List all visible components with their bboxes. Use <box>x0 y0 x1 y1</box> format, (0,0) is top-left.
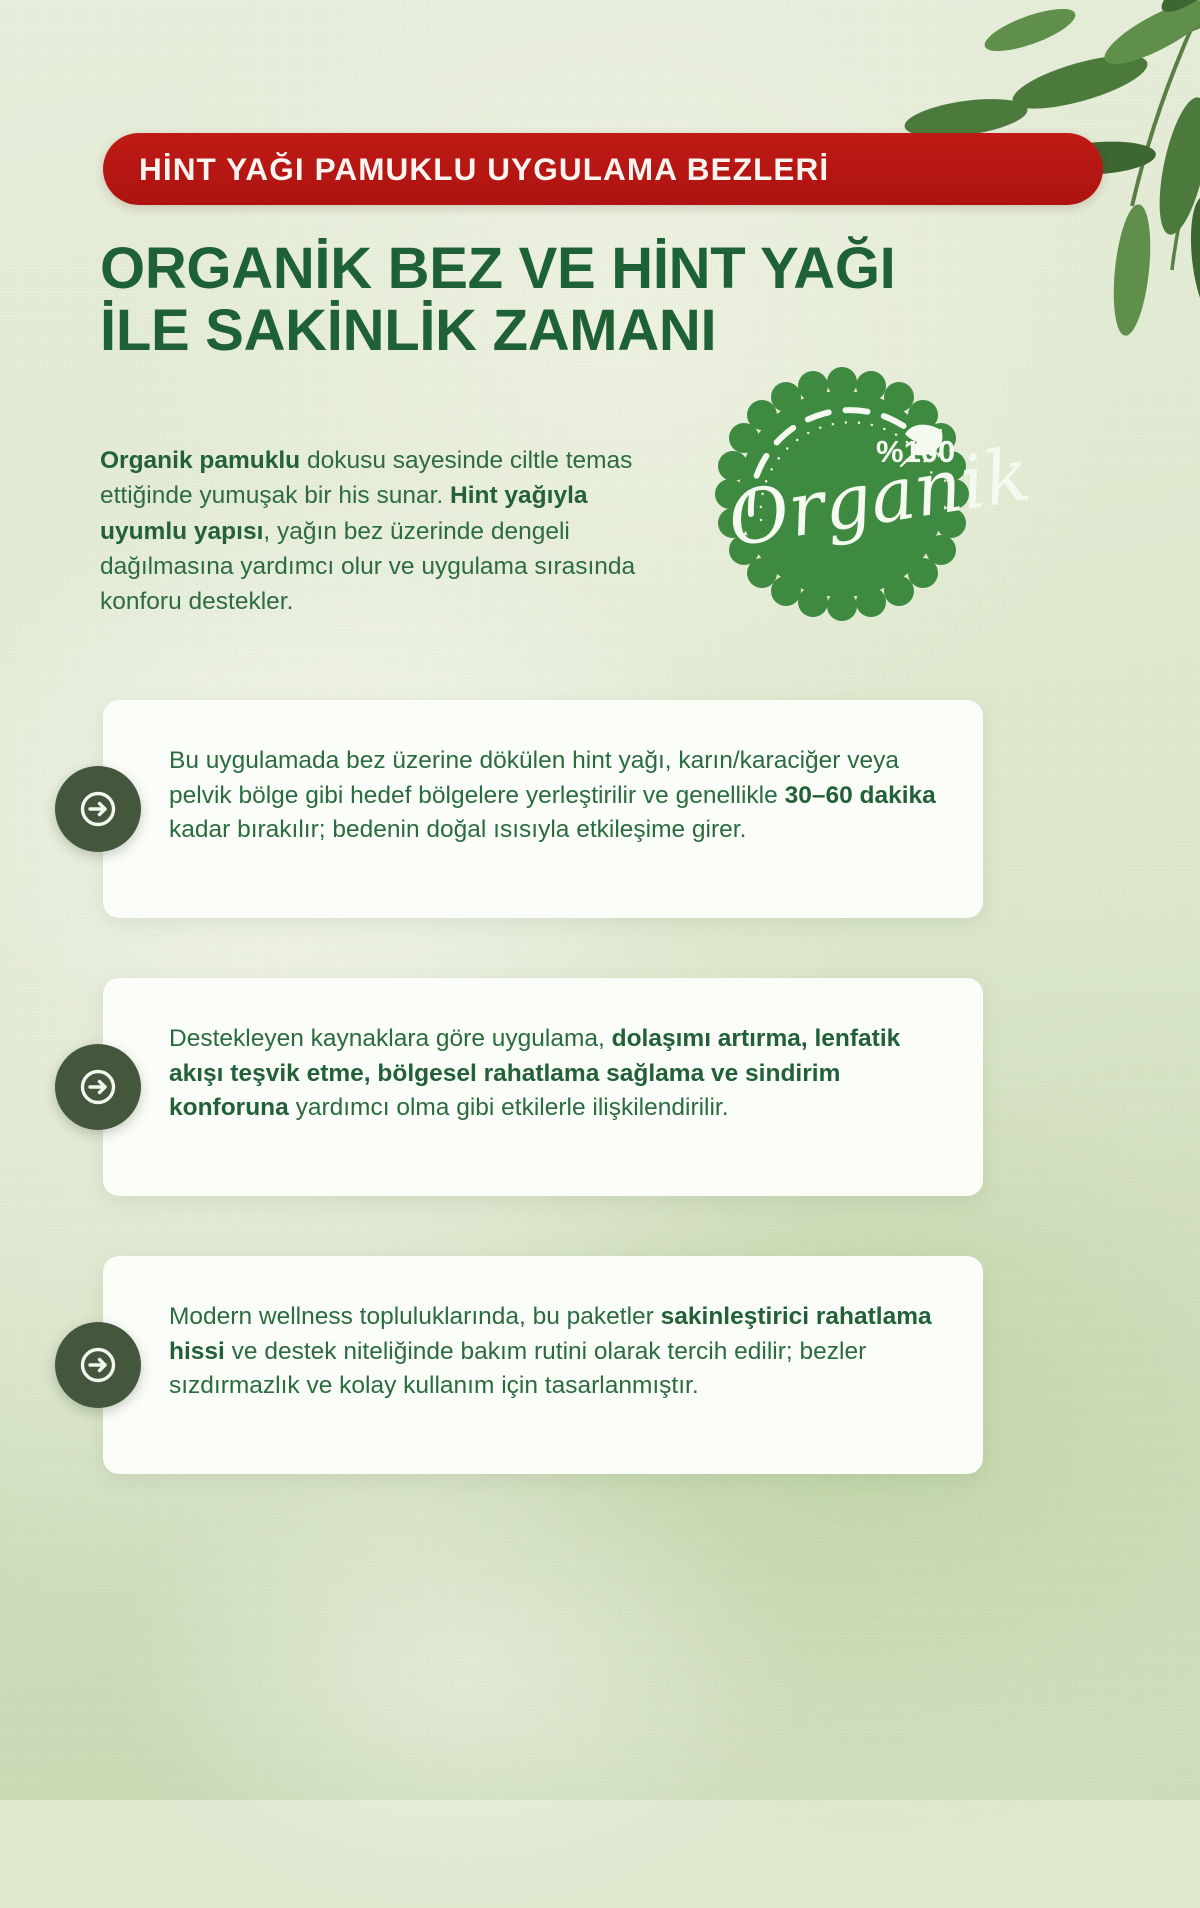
page-title: ORGANİK BEZ VE HİNT YAĞI İLE SAKİNLİK ZA… <box>100 238 940 362</box>
intro-paragraph: Organik pamuklu dokusu sayesinde ciltle … <box>100 443 670 619</box>
arrow-right-circle-icon[interactable] <box>55 766 141 852</box>
page-title-line-1: ORGANİK BEZ VE HİNT YAĞI <box>100 236 896 301</box>
feature-card: Modern wellness topluluklarında, bu pake… <box>103 1256 983 1474</box>
card-1-part-2: 30–60 dakika <box>785 782 936 809</box>
feature-card: Destekleyen kaynaklara göre uygulama, do… <box>103 978 983 1196</box>
card-2-part-1: Destekleyen kaynaklara göre uygulama, <box>169 1025 612 1052</box>
feature-card-text: Bu uygulamada bez üzerine dökülen hint y… <box>169 744 955 848</box>
card-3-part-1: Modern wellness topluluklarında, bu pake… <box>169 1303 661 1330</box>
card-3-part-3: ve destek niteliğinde bakım rutini olara… <box>169 1338 866 1400</box>
arrow-right-circle-icon[interactable] <box>55 1044 141 1130</box>
page-title-line-2: İLE SAKİNLİK ZAMANI <box>100 300 940 362</box>
organic-seal-graphic: %100 Organik <box>705 368 980 618</box>
feature-card-text: Modern wellness topluluklarında, bu pake… <box>169 1300 955 1404</box>
organic-seal-badge: %100 Organik <box>705 368 980 618</box>
feature-card-text: Destekleyen kaynaklara göre uygulama, do… <box>169 1022 955 1126</box>
card-1-part-3: kadar bırakılır; bedenin doğal ısısıyla … <box>169 816 746 843</box>
arrow-right-circle-icon[interactable] <box>55 1322 141 1408</box>
card-2-part-3: yardımcı olma gibi etkilerle ilişkilendi… <box>289 1094 729 1121</box>
feature-card: Bu uygulamada bez üzerine dökülen hint y… <box>103 700 983 918</box>
intro-bold-1: Organik pamuklu <box>100 447 300 474</box>
header-banner-label: HİNT YAĞI PAMUKLU UYGULAMA BEZLERİ <box>103 151 829 188</box>
infographic-page: HİNT YAĞI PAMUKLU UYGULAMA BEZLERİ ORGAN… <box>0 0 1200 1800</box>
header-banner: HİNT YAĞI PAMUKLU UYGULAMA BEZLERİ <box>103 133 1103 205</box>
